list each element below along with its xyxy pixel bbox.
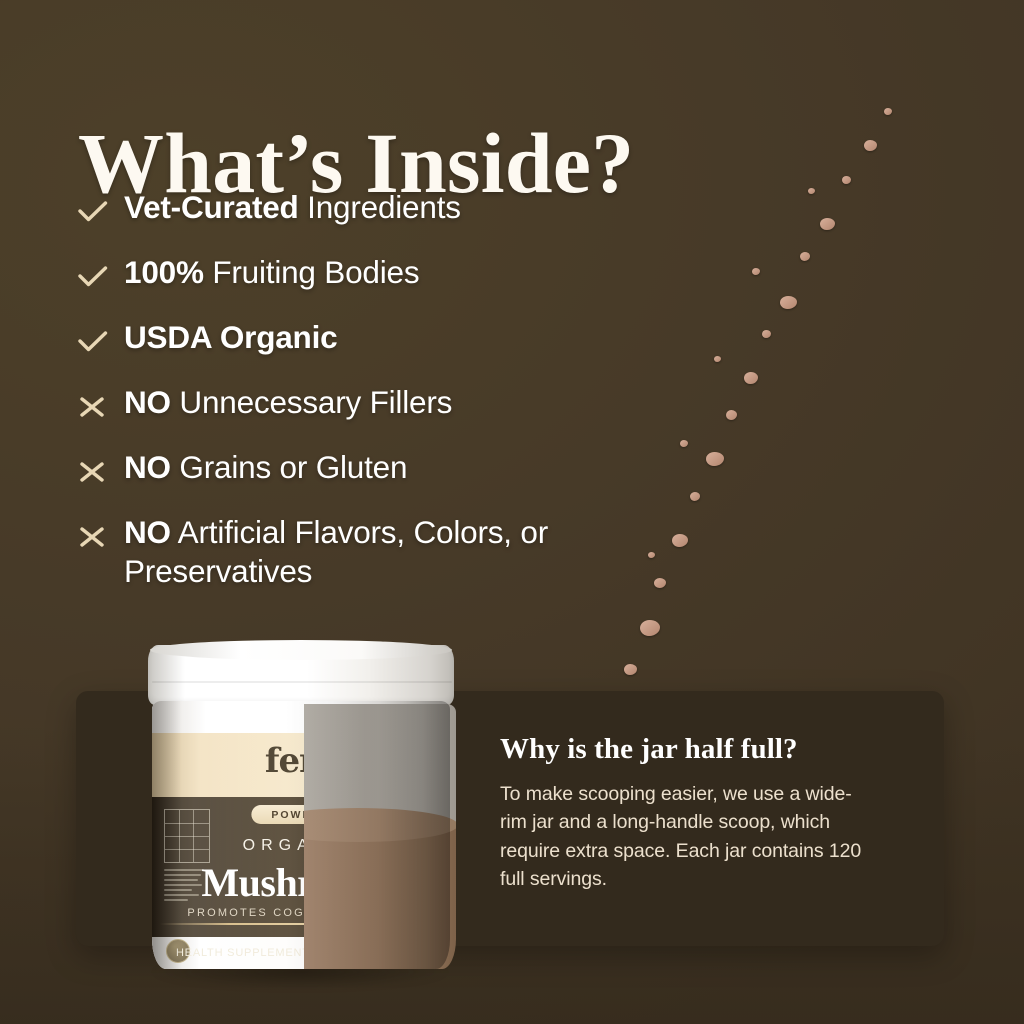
list-item-text: NO Grains or Gluten: [124, 446, 407, 487]
list-item-strong: NO: [124, 384, 171, 420]
list-item-text: NO Artificial Flavors, Colors, or Preser…: [124, 511, 654, 592]
list-item-text: Vet-Curated Ingredients: [124, 186, 461, 227]
check-icon: [78, 195, 124, 229]
list-item: 100% Fruiting Bodies: [78, 251, 698, 316]
list-item-text: NO Unnecessary Fillers: [124, 381, 452, 422]
list-item-strong: NO: [124, 514, 171, 550]
check-icon: [78, 260, 124, 294]
info-card-text: Why is the jar half full? To make scoopi…: [500, 733, 900, 893]
list-item-strong: USDA Organic: [124, 319, 337, 355]
list-item: Vet-Curated Ingredients: [78, 186, 698, 251]
jar-lid-top: [150, 640, 452, 660]
check-icon: [78, 325, 124, 359]
info-card-title: Why is the jar half full?: [500, 733, 900, 766]
list-item-rest: Grains or Gluten: [171, 449, 407, 485]
list-item-rest: Artificial Flavors, Colors, or Preservat…: [124, 514, 548, 589]
jar-powder-fill: [304, 822, 456, 969]
jar-cutaway-overlay: [304, 704, 456, 969]
cross-icon: [78, 390, 124, 424]
cross-icon: [78, 455, 124, 489]
list-item: USDA Organic: [78, 316, 698, 381]
list-item-text: 100% Fruiting Bodies: [124, 251, 419, 292]
list-item-rest: Unnecessary Fillers: [171, 384, 452, 420]
list-item-strong: NO: [124, 449, 171, 485]
list-item-strong: 100%: [124, 254, 204, 290]
list-item: NO Artificial Flavors, Colors, or Preser…: [78, 511, 698, 592]
info-card-body: To make scooping easier, we use a wide-r…: [500, 780, 872, 893]
list-item-strong: Vet-Curated: [124, 189, 299, 225]
list-item-text: USDA Organic: [124, 316, 337, 357]
list-item: NO Grains or Gluten: [78, 446, 698, 511]
marketing-graphic: What’s Inside? Vet-Curated Ingredients 1…: [0, 0, 1024, 1024]
list-item: NO Unnecessary Fillers: [78, 381, 698, 446]
benefits-list: Vet-Curated Ingredients 100% Fruiting Bo…: [78, 186, 698, 592]
product-jar-image: fera POWDER ORGANIC Mushrooms PROMOTES C…: [146, 645, 456, 983]
jar-lid-seam: [152, 681, 452, 683]
cross-icon: [78, 520, 124, 554]
list-item-rest: Fruiting Bodies: [204, 254, 420, 290]
list-item-rest: Ingredients: [299, 189, 461, 225]
